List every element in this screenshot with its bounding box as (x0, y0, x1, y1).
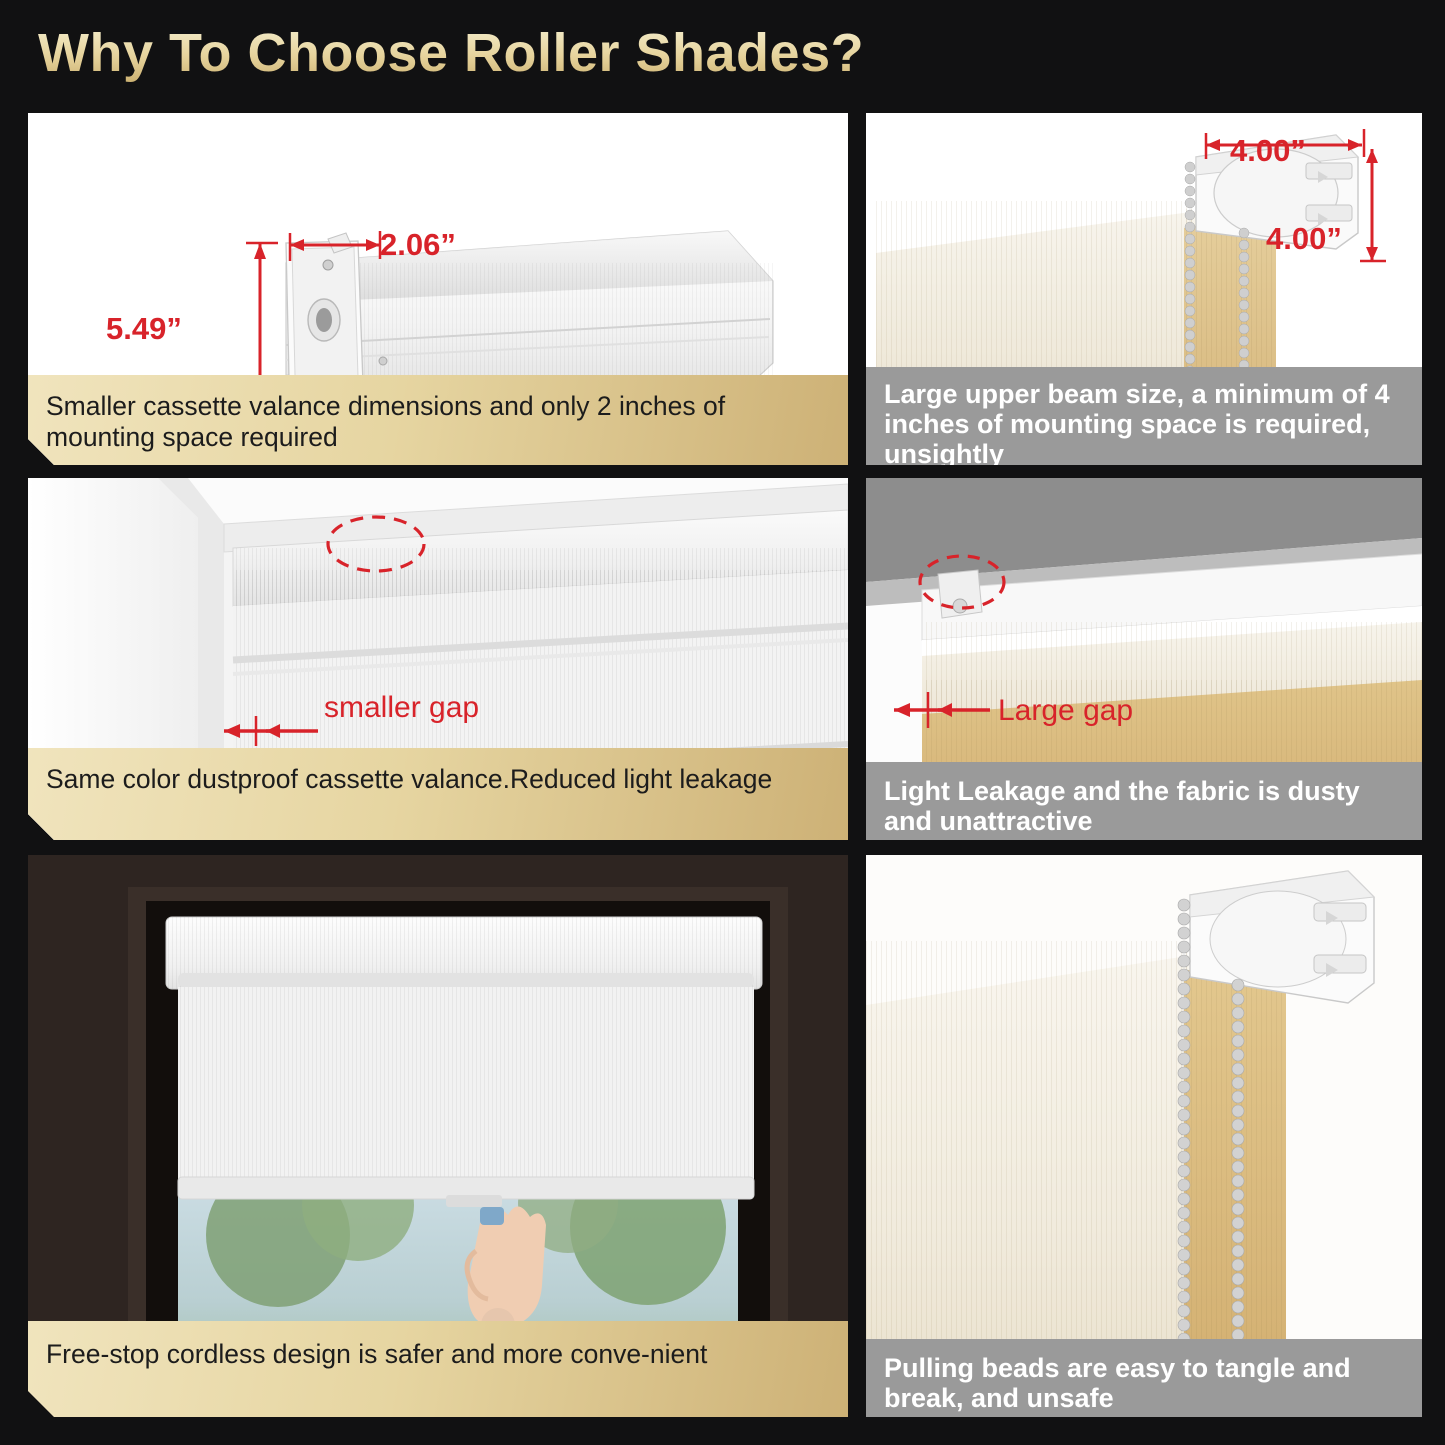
panel-4-caption: Light Leakage and the fabric is dusty an… (866, 762, 1422, 840)
panel-3-caption: Same color dustproof cassette valance.Re… (28, 748, 848, 840)
panel-3: smaller gap Same color dustproof cassett… (28, 478, 848, 840)
panel-4: Large gap Light Leakage and the fabric i… (866, 478, 1422, 840)
panel-4-gap-callout: Large gap (998, 694, 1133, 728)
panel-6-caption: Pulling beads are easy to tangle and bre… (866, 1339, 1422, 1417)
panel-2-width-dimension: 4.00” (1230, 133, 1306, 169)
panel-1-caption: Smaller cassette valance dimensions and … (28, 375, 848, 465)
panel-6-photo (866, 855, 1422, 1417)
panel-5-caption: Free-stop cordless design is safer and m… (28, 1321, 848, 1417)
panel-1: 2.06” 5.49” Smaller cassette valance dim… (28, 113, 848, 465)
panel-3-gap-callout: smaller gap (324, 691, 479, 725)
bead-chain-illustration (866, 855, 1422, 1417)
panel-5: Free-stop cordless design is safer and m… (28, 855, 848, 1417)
infographic-page: Why To Choose Roller Shades? (0, 0, 1445, 1445)
panel-2-depth-dimension: 4.00” (1266, 221, 1342, 257)
page-title: Why To Choose Roller Shades? (38, 22, 864, 84)
panel-2: 4.00” 4.00” Large upper beam size, a min… (866, 113, 1422, 465)
panel-2-caption: Large upper beam size, a minimum of 4 in… (866, 367, 1422, 465)
panel-6: Pulling beads are easy to tangle and bre… (866, 855, 1422, 1417)
panel-1-height-dimension: 5.49” (106, 311, 182, 347)
panel-1-width-dimension: 2.06” (380, 227, 456, 263)
